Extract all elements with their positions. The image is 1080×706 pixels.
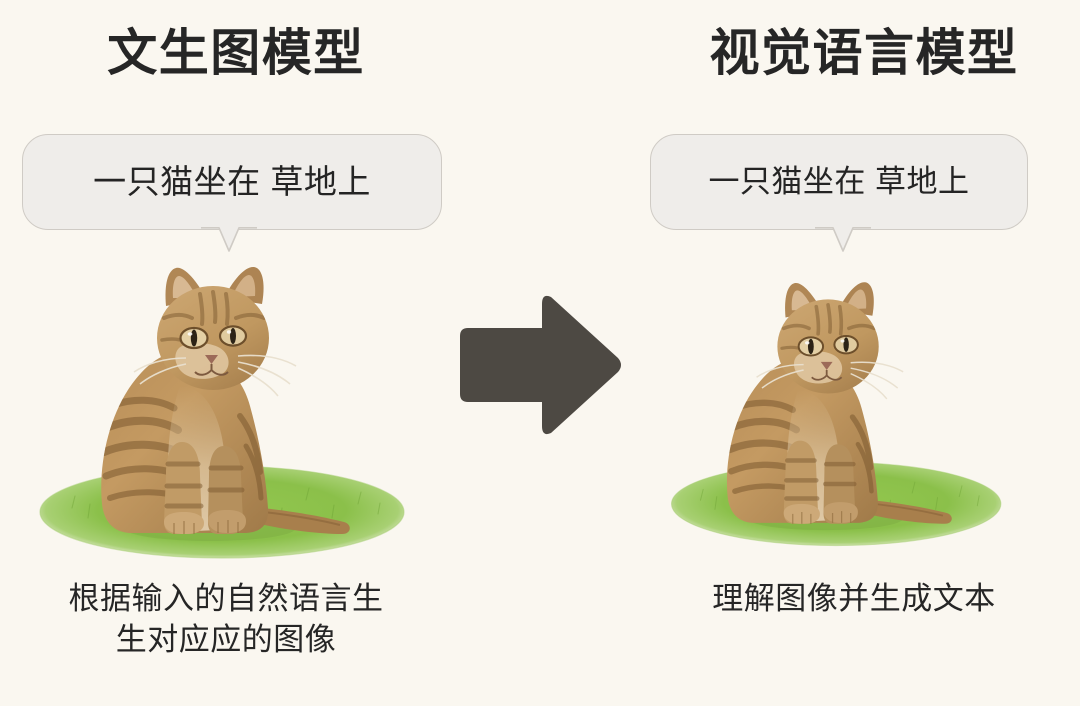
speech-bubble-vision-language: 一只猫坐在 草地上 — [650, 134, 1028, 230]
caption-line: 理解图像并生成文本 — [628, 578, 1080, 619]
speech-bubble-text-to-image: 一只猫坐在 草地上 — [22, 134, 442, 230]
cat-illustration-right — [648, 250, 1028, 566]
panel-title-vision-language: 视觉语言模型 — [628, 22, 1080, 84]
flow-arrow — [452, 290, 624, 440]
cat-illustration-left — [14, 246, 434, 566]
arrow-right-icon — [452, 290, 624, 440]
caption-line: 根据输入的自然语言生 — [0, 578, 452, 619]
caption-line: 生对应应的图像 — [0, 619, 452, 660]
cat-on-grass-icon — [14, 246, 434, 566]
speech-bubble-body: 一只猫坐在 草地上 — [22, 134, 442, 230]
diagram-canvas: 文生图模型 一只猫坐在 草地上 — [0, 0, 1080, 706]
caption-text-to-image: 根据输入的自然语言生 生对应应的图像 — [0, 578, 452, 660]
speech-bubble-text: 一只猫坐在 草地上 — [708, 162, 969, 202]
speech-bubble-text: 一只猫坐在 草地上 — [93, 162, 371, 202]
speech-bubble-body: 一只猫坐在 草地上 — [650, 134, 1028, 230]
caption-vision-language: 理解图像并生成文本 — [628, 578, 1080, 619]
cat-on-grass-icon — [648, 250, 1028, 566]
panel-title-text-to-image: 文生图模型 — [0, 22, 462, 84]
panel-text-to-image: 文生图模型 一只猫坐在 草地上 — [0, 0, 452, 706]
panel-vision-language: 视觉语言模型 一只猫坐在 草地上 — [628, 0, 1080, 706]
